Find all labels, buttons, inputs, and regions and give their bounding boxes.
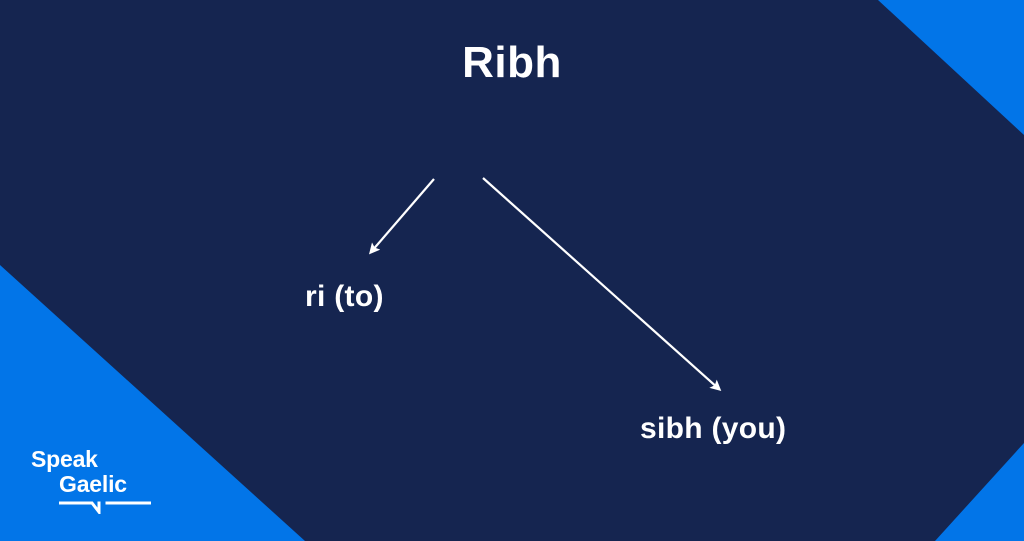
slide-canvas: Ribh ri (to) sibh (you) Speak Gaelic: [0, 0, 1024, 541]
page-title: Ribh: [0, 39, 1024, 87]
logo-word-speak: Speak: [31, 447, 151, 472]
speech-bubble-underline-icon: [31, 501, 151, 519]
logo-underline-svg: [59, 501, 151, 514]
node-sibh: sibh (you): [640, 412, 786, 446]
speakgaelic-logo: Speak Gaelic: [31, 447, 151, 519]
arrow-to-sibh: [483, 178, 719, 389]
node-ri: ri (to): [305, 280, 384, 314]
arrow-to-ri: [371, 179, 434, 252]
logo-word-gaelic: Gaelic: [31, 472, 151, 497]
